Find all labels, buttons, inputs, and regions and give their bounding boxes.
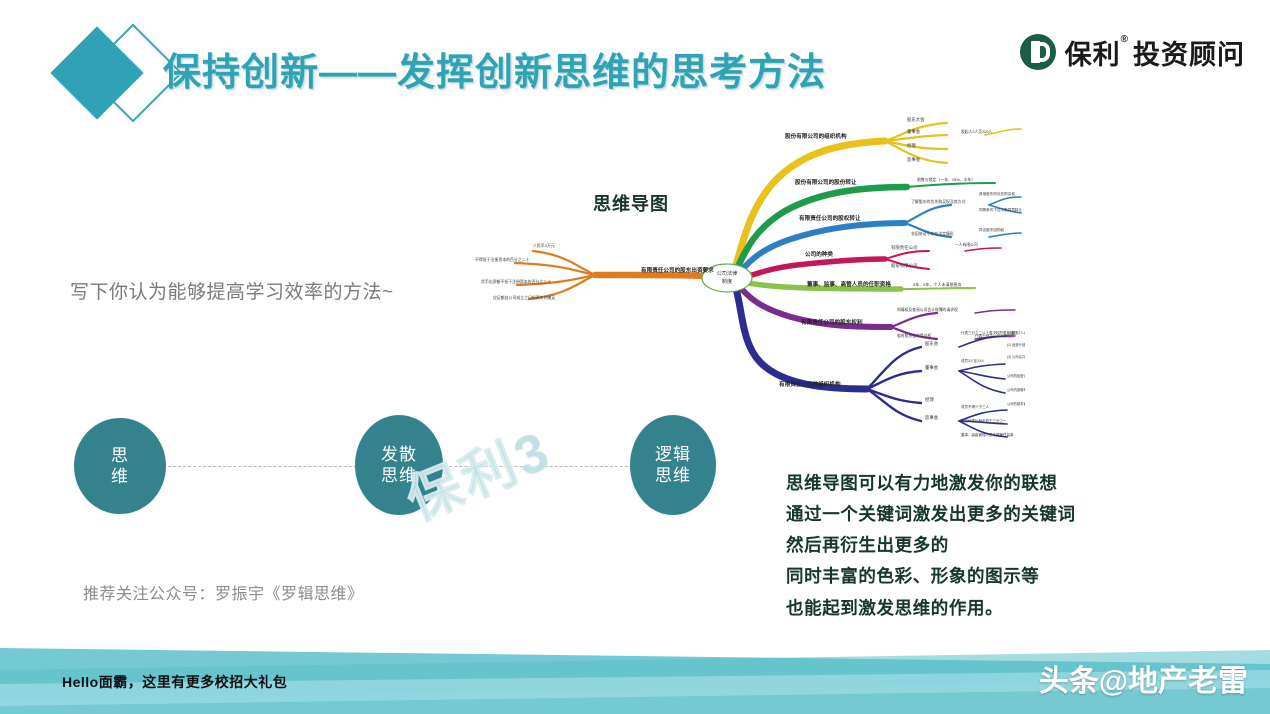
mindmap-svg: 公司法律 制度 股份有限公司的组织机构 股份有限公司的股份转让 有限责任公司的股…	[455, 105, 1025, 440]
mindmap-sub-label: 股份有限公司	[891, 262, 917, 269]
slide-canvas: 保持创新——发挥创新思维的思考方法 保利 ® 投资顾问 写下你认为能够提高学习效…	[0, 0, 1270, 714]
mindmap-sub-label: 了解股东的优先购买权及其方式	[911, 199, 966, 204]
mindmap-sub-label: 货币出资额不低于注册资本的百分之三十	[481, 279, 551, 284]
mindmap-branch-title: 有限责任公司的组织机构	[779, 380, 841, 388]
bottom-banner: Hello面霸，这里有更多校招大礼包 头条@地产老雷	[0, 640, 1270, 714]
mindmap-sub-label: (2) 经营计划与投资方案	[1007, 342, 1025, 347]
mindmap-sub-label: 临时股东会的提议权	[897, 333, 931, 338]
mindmap-sub-label: 职工代表比例不低于三分之一	[961, 418, 1007, 423]
mindmap-branch-title: 董事、监事、高管人员的任职资格	[807, 280, 891, 288]
mindmap-sub-label: 一人有限公司	[955, 242, 978, 247]
mindmap-sub-label: 成员3人至13人	[961, 358, 985, 363]
logo-wordmark: 保利 ® 投资顾问	[1065, 33, 1245, 72]
mindmap-sub-label: 公司的经营计划与投资方案	[1007, 373, 1025, 378]
mindmap-branch-title: 有限责任公司的股东权利	[801, 318, 863, 326]
note-paragraph: 思维导图可以有力地激发你的联想 通过一个关键词激发出更多的关键词 然后再衍生出更…	[786, 468, 1076, 624]
prompt-text: 写下你认为能够提高学习效率的方法~	[70, 277, 394, 304]
bubble-line-1: 思	[111, 445, 129, 466]
mindmap-sub-label: 监事会	[925, 414, 939, 421]
mindmap-sub-label: 有限责任公司	[891, 244, 917, 251]
mindmap-sub-label: 成员不得少于三人	[961, 404, 989, 409]
bubble-line-1: 发散	[381, 444, 417, 465]
brand-logo: 保利 ® 投资顾问	[1020, 28, 1245, 76]
logo-registered-mark: ®	[1121, 35, 1128, 45]
bubble-divergent-thinking[interactable]: 发散 思维	[355, 415, 443, 515]
logo-suffix: 投资顾问	[1133, 33, 1245, 72]
mindmap-sub-label: 不得低于注册资本的百分之二十	[475, 257, 530, 262]
mindmap-sub-label: 人民币3万元	[533, 243, 555, 248]
mindmap-sub-label: 同等条件下过半数同意转让	[979, 207, 1023, 212]
mindmap-sub-label: 知情权及查阅公司会计账簿的请求权	[897, 307, 958, 312]
mindmap-sub-label: 其他股东的优先购买权	[979, 191, 1015, 196]
bubble-line-2: 维	[111, 466, 129, 487]
mindmap-sub-label: 应足额自公司成立之日起两年内缴足	[493, 295, 555, 300]
poly-p-logo-icon	[1020, 34, 1056, 70]
mindmap-sub-label: 董事会	[907, 128, 921, 135]
mindmap-center-label: 公司法律	[717, 269, 738, 277]
mindmap-sub-label: 股东会	[925, 340, 939, 347]
bubble-line-2: 思维	[655, 465, 691, 486]
mindmap-sub-label: 限售与锁定（一年、25%、半年）	[917, 177, 975, 182]
mindmap-sub-label: 董事会	[925, 364, 939, 371]
mindmap-sub-label: 经理	[925, 396, 934, 402]
bottom-right-watermark: 头条@地产老雷	[1039, 656, 1248, 700]
mindmap-sub-label: 公司的基本管理制度	[1007, 401, 1025, 406]
recommend-text: 推荐关注公众号：罗振宇《罗辑思维》	[83, 580, 364, 604]
mindmap-sub-label: (1) 股东2人以上	[1007, 330, 1025, 335]
mindmap-branch-title: 股份有限公司的组织机构	[785, 132, 847, 140]
mindmap-sub-label: 股东大会	[907, 116, 925, 123]
mindmap-figure: 公司法律 制度 股份有限公司的组织机构 股份有限公司的股份转让 有限责任公司的股…	[455, 105, 1025, 440]
note-line: 然后再衍生出更多的	[786, 530, 1076, 561]
mindmap-sub-label: (3) 公司合并、分立、解散	[1007, 354, 1025, 359]
mindmap-sub-label: 公司内部管理机构的设置	[1007, 387, 1025, 392]
note-line: 思维导图可以有力地激发你的联想	[786, 468, 1076, 499]
mindmap-branch-title: 有限责任公司的股权转让	[799, 214, 861, 222]
mindmap-sub-label: 异议股东回购权	[979, 227, 1005, 232]
note-line: 通过一个关键词激发出更多的关键词	[786, 499, 1076, 530]
banner-text: Hello面霸，这里有更多校招大礼包	[62, 672, 287, 692]
mindmap-sub-label: 经理	[907, 142, 916, 148]
logo-brand: 保利	[1065, 33, 1121, 72]
note-line: 同时丰富的色彩、形象的图示等	[786, 561, 1076, 592]
svg-text:制度: 制度	[722, 277, 732, 285]
bubble-line-2: 思维	[381, 465, 417, 486]
watermark-text: 头条@地产老雷	[1039, 656, 1248, 700]
mindmap-sub-label: 董事、高级管理人员不得兼任监事	[961, 432, 1014, 437]
bubble-line-1: 逻辑	[655, 444, 691, 465]
page-title: 保持创新——发挥创新思维的思考方法	[163, 41, 826, 96]
mindmap-sub-label: 发起人2人至200人	[961, 129, 992, 134]
mindmap-sub-label: 监事会	[907, 156, 921, 163]
mindmap-sub-label: 非因协议不存在法定情形	[911, 231, 954, 236]
mindmap-branch-title: 股份有限公司的股份转让	[795, 178, 857, 186]
mindmap-sub-label: 3年、5年、个人未清偿债务	[913, 281, 961, 287]
diamond-icon	[58, 26, 170, 126]
note-line: 也能起到激发思维的作用。	[786, 593, 1076, 624]
mindmap-branch-title: 公司的种类	[805, 250, 833, 258]
mindmap-branch-title: 有限责任公司的股东出资要求	[641, 266, 714, 274]
bubble-thinking[interactable]: 思 维	[74, 418, 166, 514]
